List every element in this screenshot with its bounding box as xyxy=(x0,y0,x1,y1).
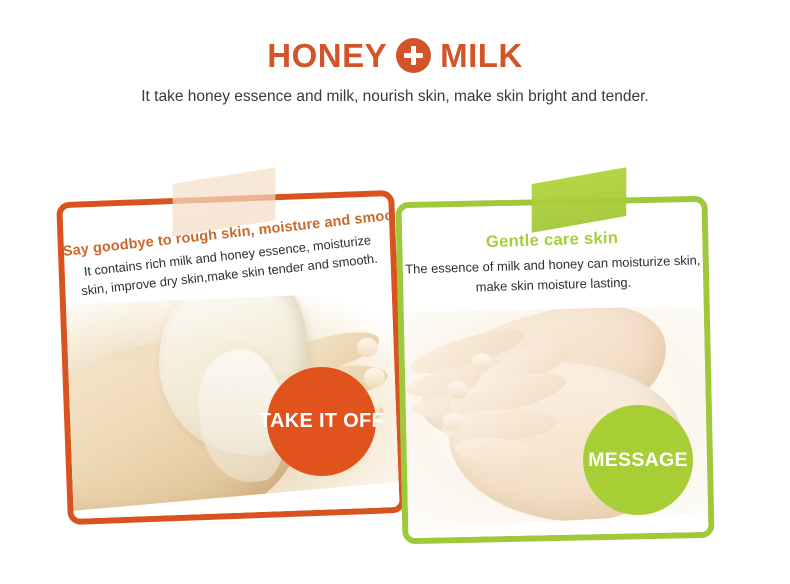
title-word-milk: MILK xyxy=(440,39,523,72)
card-background: Say goodbye to rough skin, moisture and … xyxy=(62,196,399,519)
peel-off-card: Say goodbye to rough skin, moisture and … xyxy=(56,190,406,525)
gentle-care-card-text: Gentle care skin The essence of milk and… xyxy=(402,226,704,296)
fingernail-shape xyxy=(442,413,463,432)
take-it-off-badge[interactable]: TAKE IT OFF xyxy=(267,367,376,476)
gentle-care-card-heading: Gentle care skin xyxy=(402,226,702,254)
message-badge[interactable]: MESSAGE xyxy=(583,405,693,515)
gentle-care-card-body-line-2: make skin moisture lasting. xyxy=(403,272,703,296)
page-subtitle: It take honey essence and milk, nourish … xyxy=(0,88,790,106)
product-infographic: HONEY MILK It take honey essence and mil… xyxy=(0,0,790,584)
message-badge-label: MESSAGE xyxy=(588,449,688,472)
plus-icon xyxy=(396,38,431,73)
page-title: HONEY MILK xyxy=(0,33,790,77)
take-it-off-badge-label: TAKE IT OFF xyxy=(259,410,384,433)
title-word-honey: HONEY xyxy=(267,39,387,72)
